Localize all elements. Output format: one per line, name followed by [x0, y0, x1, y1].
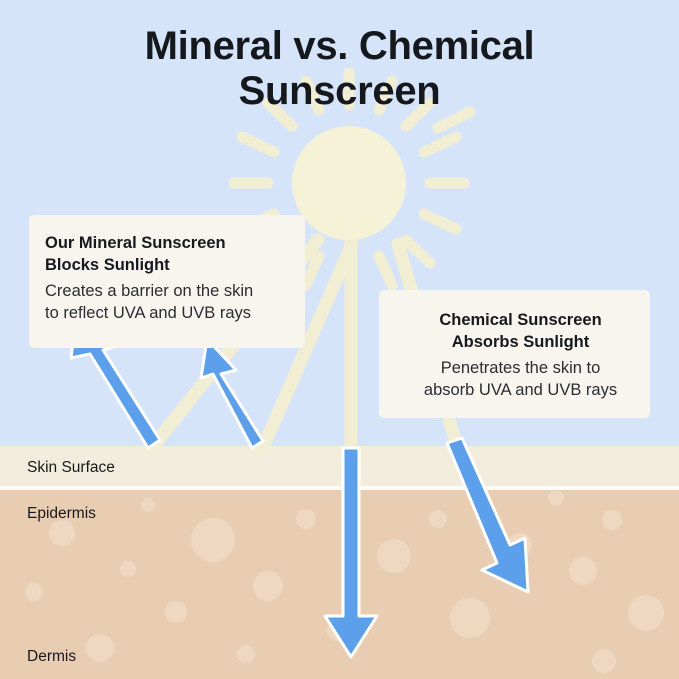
title-line-2: Sunscreen — [0, 69, 679, 114]
callout-chemical-heading-line-2: Absorbs Sunlight — [452, 333, 590, 351]
callout-mineral-heading: Our Mineral Sunscreen Blocks Sunlight — [45, 233, 291, 277]
sun-disc — [292, 126, 406, 240]
layer-label-epidermis: Epidermis — [27, 505, 96, 523]
callout-chemical-heading: Chemical Sunscreen Absorbs Sunlight — [405, 310, 636, 354]
callout-chemical-body-line-2: absorb UVA and UVB rays — [424, 381, 617, 399]
callout-mineral-body-line-1: Creates a barrier on the skin — [45, 282, 253, 300]
callout-chemical-body: Penetrates the skin to absorb UVA and UV… — [405, 357, 636, 401]
callout-mineral-heading-line-2: Blocks Sunlight — [45, 256, 170, 274]
callout-chemical-heading-line-1: Chemical Sunscreen — [439, 311, 601, 329]
callout-mineral-sunscreen: Our Mineral Sunscreen Blocks Sunlight Cr… — [29, 215, 305, 348]
callout-chemical-sunscreen: Chemical Sunscreen Absorbs Sunlight Pene… — [379, 290, 650, 418]
infographic-canvas: Mineral vs. Chemical Sunscreen Our Miner… — [0, 0, 679, 679]
title-line-1: Mineral vs. Chemical — [0, 24, 679, 69]
callout-mineral-body: Creates a barrier on the skin to reflect… — [45, 280, 291, 324]
callout-mineral-body-line-2: to reflect UVA and UVB rays — [45, 304, 251, 322]
page-title: Mineral vs. Chemical Sunscreen — [0, 24, 679, 114]
callout-chemical-body-line-1: Penetrates the skin to — [441, 359, 601, 377]
layer-label-dermis: Dermis — [27, 648, 76, 666]
callout-mineral-heading-line-1: Our Mineral Sunscreen — [45, 234, 226, 252]
layer-label-skin-surface: Skin Surface — [27, 459, 115, 477]
skin-surface-divider — [0, 486, 679, 490]
